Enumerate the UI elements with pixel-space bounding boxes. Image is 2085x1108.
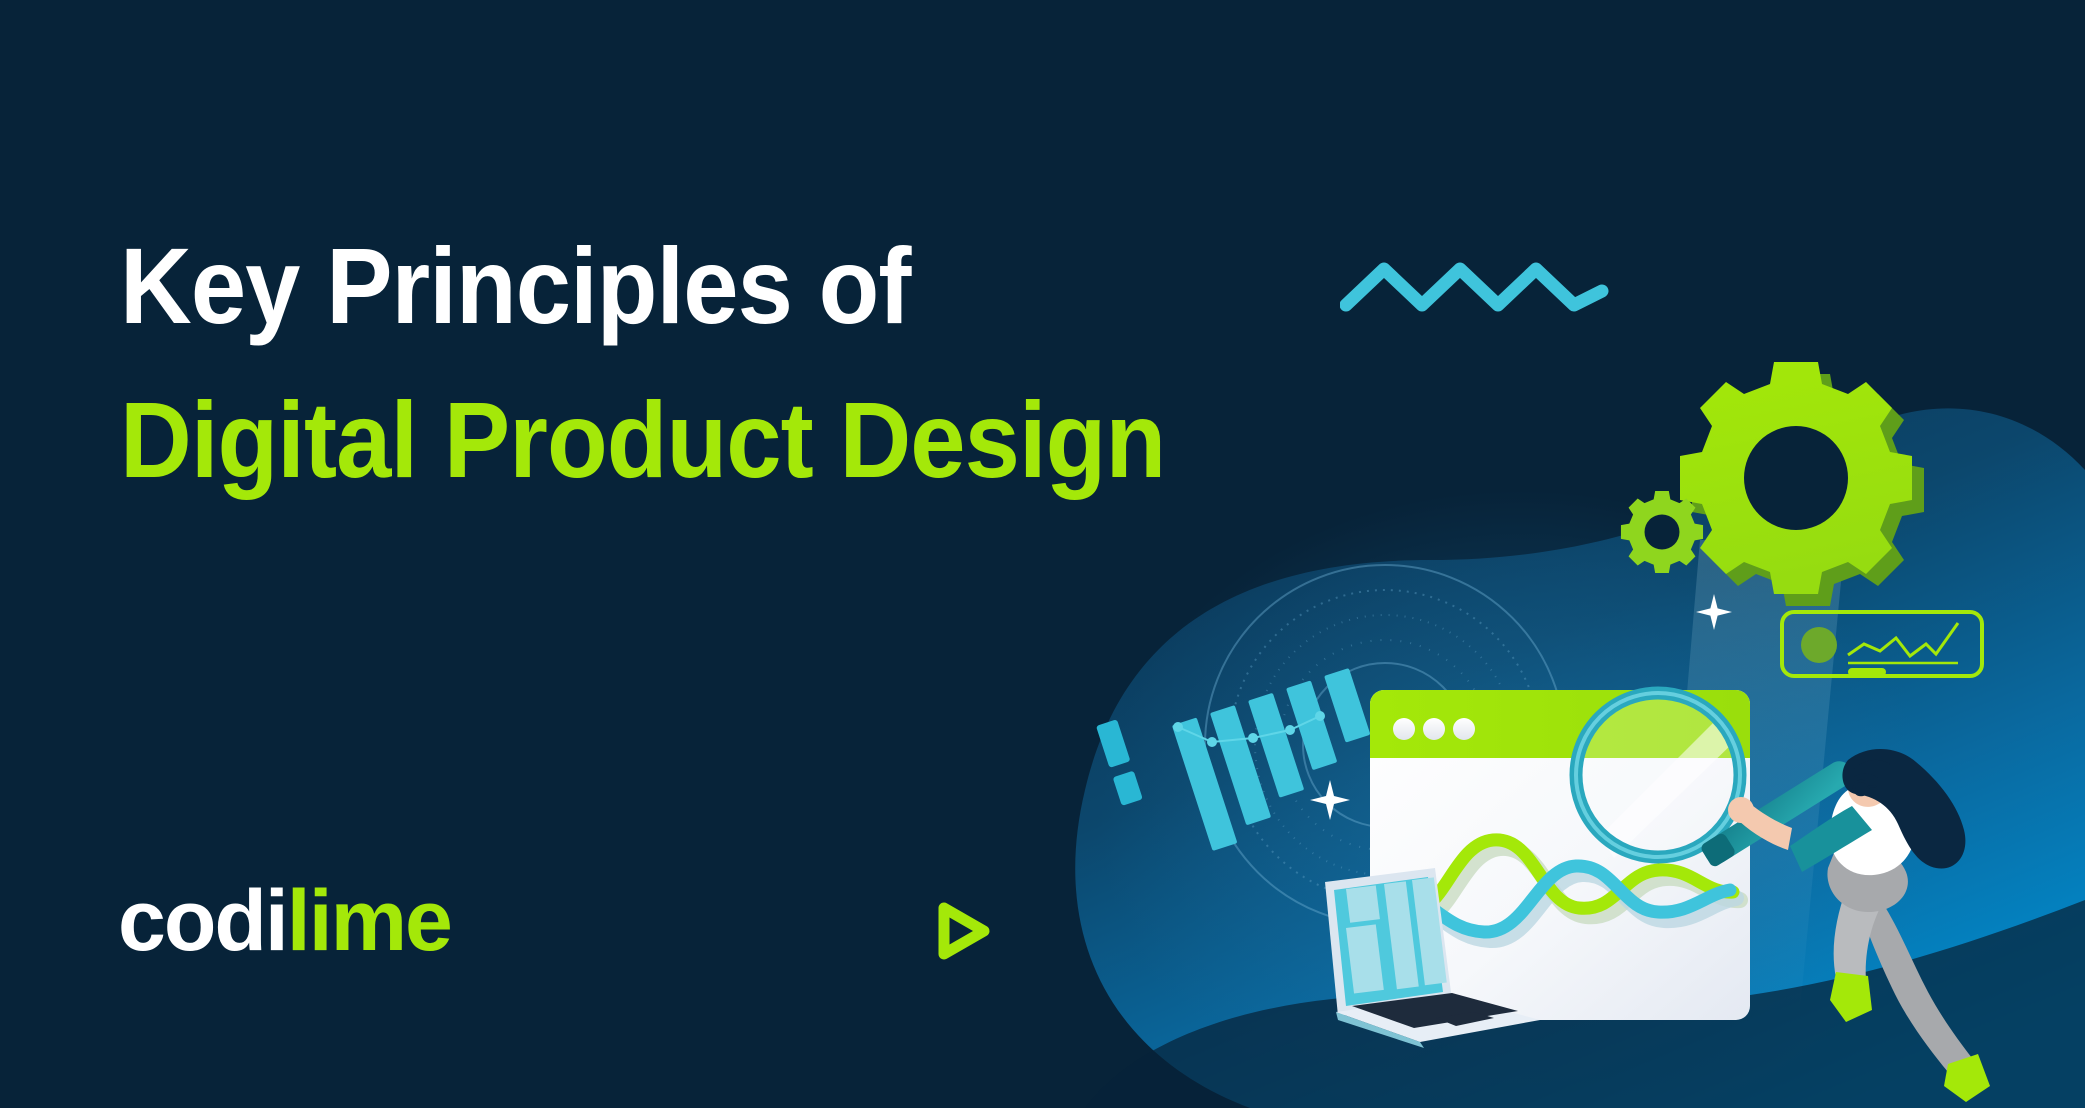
chart-card-bar <box>1848 668 1886 676</box>
play-triangle-icon[interactable] <box>930 900 992 962</box>
chart-card-avatar <box>1801 627 1837 663</box>
window-dot-1 <box>1393 718 1415 740</box>
logo-text-lime: lime <box>287 873 451 969</box>
laptop-screen-layout <box>1346 877 1447 993</box>
window-dot-2 <box>1423 718 1445 740</box>
chart-card-sparkline <box>1848 623 1958 656</box>
gear-small-icon <box>1621 491 1703 573</box>
gear-large-icon <box>1680 362 1924 606</box>
window-dot-3 <box>1453 718 1475 740</box>
hero-title-line-2: Digital Product Design <box>120 376 1165 504</box>
bar-cluster-decoration <box>1172 668 1390 851</box>
chart-card-widget <box>1782 612 1982 676</box>
magnifier-icon <box>1576 693 1740 858</box>
hero-title-line-1: Key Principles of <box>120 222 1165 350</box>
zigzag-icon <box>1340 255 1610 315</box>
person-shoe-front <box>1830 972 1872 1022</box>
logo-text-codi: codi <box>118 873 287 969</box>
poster-canvas: Key Principles of Digital Product Design… <box>0 0 2085 1108</box>
bar-5 <box>1324 668 1370 743</box>
person-leg-back <box>1860 902 1972 1072</box>
bar-4 <box>1286 680 1337 770</box>
bar-cluster-accent <box>1096 719 1143 806</box>
hero-title: Key Principles of Digital Product Design <box>120 222 1256 504</box>
person-hand <box>1728 797 1754 823</box>
sparkle-icon-2 <box>1696 594 1732 630</box>
codilime-logo[interactable]: codilime <box>118 878 451 964</box>
sparkle-icon-1 <box>1310 780 1350 820</box>
